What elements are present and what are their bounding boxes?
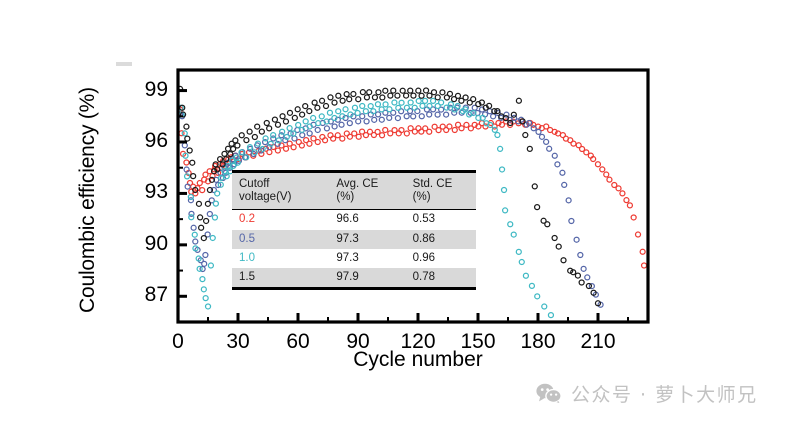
watermark-text: 公众号 · 萝卜大师兄 [571,380,758,407]
header-cutoff-voltage: Cutoff voltage(V) [232,172,329,210]
x-tick-label: 60 [273,330,323,354]
cell-std-ce: 0.78 [406,268,476,289]
table-row: 1.0 97.3 0.96 [232,249,476,268]
table-row: 1.5 97.9 0.78 [232,268,476,289]
header-cutoff-line2: voltage(V) [239,191,323,204]
y-tick-label: 99 [128,78,168,102]
figure-container: Coulombic efficiency (%) Cycle number 87… [0,0,800,425]
cell-voltage: 1.0 [232,249,329,268]
wechat-icon [536,383,562,404]
y-tick-label: 87 [128,283,168,307]
wechat-watermark: 公众号 · 萝卜大师兄 [536,380,758,407]
cell-std-ce: 0.86 [406,230,476,249]
header-avg-line1: Avg. CE [336,178,378,190]
x-tick-label: 150 [453,330,503,354]
cell-std-ce: 0.53 [406,210,476,230]
y-tick-label: 96 [128,129,168,153]
x-tick-label: 180 [513,330,563,354]
header-std-ce: Std. CE (%) [406,172,476,210]
cell-voltage: 0.5 [232,230,329,249]
header-avg-line2: (%) [336,191,399,204]
table-header-row: Cutoff voltage(V) Avg. CE (%) Std. CE (%… [232,172,476,210]
cell-avg-ce: 97.3 [329,249,405,268]
cell-avg-ce: 97.3 [329,230,405,249]
table-row: 0.5 97.3 0.86 [232,230,476,249]
cell-avg-ce: 96.6 [329,210,405,230]
x-tick-label: 0 [153,330,203,354]
header-cutoff-line1: Cutoff [239,178,269,190]
cell-std-ce: 0.96 [406,249,476,268]
cell-voltage: 0.2 [232,210,329,230]
header-std-line2: (%) [413,191,470,204]
x-tick-label: 210 [573,330,623,354]
cell-voltage: 1.5 [232,268,329,289]
header-std-line1: Std. CE [413,178,453,190]
cell-avg-ce: 97.9 [329,268,405,289]
header-avg-ce: Avg. CE (%) [329,172,405,210]
y-axis-label: Coulombic efficiency (%) [76,60,100,340]
table-row: 0.2 96.6 0.53 [232,210,476,230]
y-tick-label: 93 [128,180,168,204]
x-tick-label: 120 [393,330,443,354]
legend-statistics-table: Cutoff voltage(V) Avg. CE (%) Std. CE (%… [232,170,476,290]
x-tick-label: 30 [213,330,263,354]
x-tick-label: 90 [333,330,383,354]
y-tick-label: 90 [128,232,168,256]
